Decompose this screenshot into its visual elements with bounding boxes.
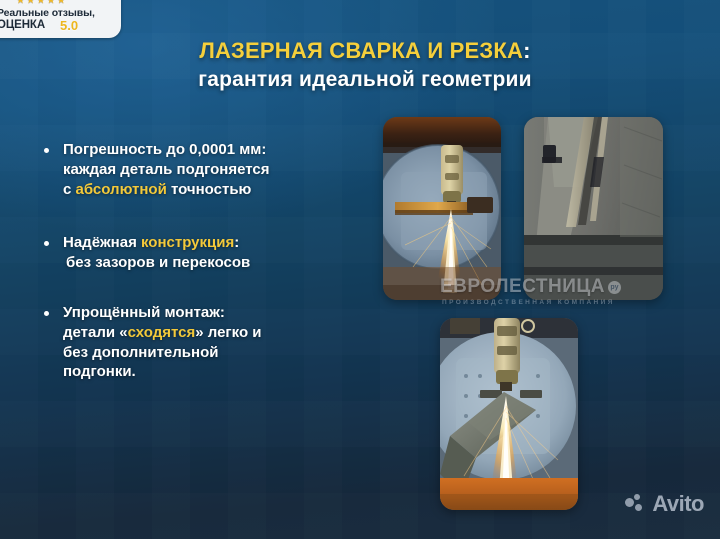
bullet-3-line-2-pre: детали « — [63, 324, 128, 341]
company-watermark-subtitle: ПРОИЗВОДСТВЕННАЯ КОМПАНИЯ — [442, 299, 710, 306]
bullet-2-line-2: без зазоров и перекосов — [63, 254, 250, 271]
bullet-dot-icon — [44, 311, 49, 316]
reviews-badge-line2: ОЦЕНКА — [0, 19, 45, 31]
bullet-3-line-4: подгонки. — [63, 363, 136, 380]
photo-1-graphic — [383, 117, 501, 300]
bullet-3-line-2-post: » легко и — [195, 324, 261, 341]
bullet-dot-icon — [44, 148, 49, 153]
avito-watermark-label: Avito — [652, 491, 704, 517]
bullet-3-line-3: без дополнительной — [63, 344, 218, 361]
title-line-1-text: ЛАЗЕРНАЯ СВАРКА И РЕЗКА — [199, 38, 523, 63]
bullet-1-line-3-pre: с — [63, 181, 76, 198]
bullet-1-line-1: Погрешность до 0,0001 мм: — [63, 141, 266, 158]
bullet-dot-icon — [44, 241, 49, 246]
photo-steel-sheets-stack — [524, 117, 663, 300]
slide-title: ЛАЗЕРНАЯ СВАРКА И РЕЗКА: гарантия идеаль… — [150, 38, 580, 92]
photo-3-graphic — [440, 318, 578, 510]
bullet-3-text: Упрощённый монтаж: детали «сходятся» лег… — [63, 303, 370, 382]
bullet-2-line-1-post: : — [234, 234, 239, 251]
promo-slide: ★★★★★ Реальные отзывы, ОЦЕНКА 5.0 ЛАЗЕРН… — [0, 0, 720, 539]
bullet-2-text: Надёжная конструкция: без зазоров и пере… — [63, 233, 370, 273]
reviews-badge: ★★★★★ Реальные отзывы, ОЦЕНКА 5.0 — [0, 0, 121, 38]
reviews-badge-line1: Реальные отзывы, — [0, 7, 95, 19]
bullet-3-line-1: Упрощённый монтаж: — [63, 304, 225, 321]
bullet-1-text: Погрешность до 0,0001 мм: каждая деталь … — [63, 140, 370, 199]
avito-watermark: Avito — [625, 491, 704, 517]
title-line-1: ЛАЗЕРНАЯ СВАРКА И РЕЗКА: — [150, 38, 580, 64]
bullet-3-highlight: сходятся — [128, 324, 196, 341]
avito-logo-icon — [625, 494, 647, 514]
photo-laser-cutting-plate-sparks — [440, 318, 578, 510]
photo-2-graphic — [524, 117, 663, 300]
photo-laser-cutting-head-sparks — [383, 117, 501, 300]
bullet-2-line-1-pre: Надёжная — [63, 234, 141, 251]
title-line-2: гарантия идеальной геометрии — [150, 68, 580, 92]
title-colon: : — [523, 38, 531, 63]
list-item: Надёжная конструкция: без зазоров и пере… — [40, 233, 370, 273]
bullet-1-line-3-post: точностью — [167, 181, 252, 198]
reviews-badge-score: 5.0 — [60, 18, 78, 33]
bullet-1-highlight: абсолютной — [76, 181, 167, 198]
list-item: Погрешность до 0,0001 мм: каждая деталь … — [40, 140, 370, 199]
feature-list: Погрешность до 0,0001 мм: каждая деталь … — [40, 140, 370, 408]
list-item: Упрощённый монтаж: детали «сходятся» лег… — [40, 303, 370, 382]
star-rating-icon: ★★★★★ — [16, 0, 67, 6]
bullet-1-line-2: каждая деталь подгоняется — [63, 161, 270, 178]
bullet-2-highlight: конструкция — [141, 234, 234, 251]
